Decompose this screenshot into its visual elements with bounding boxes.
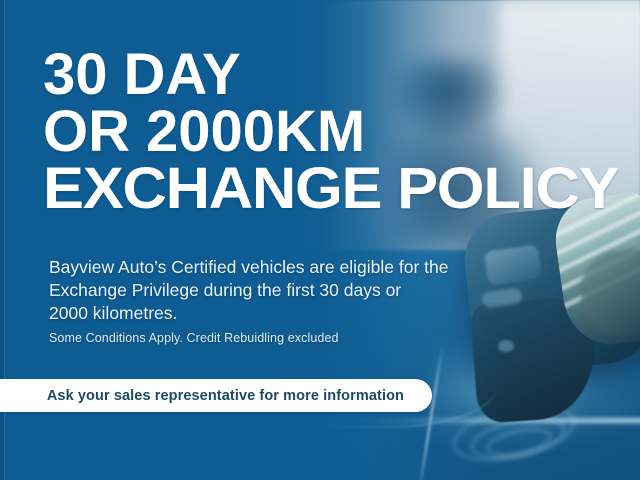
body-copy-line-1: Bayview Auto’s Certified vehicles are el… (49, 256, 489, 279)
cta-button[interactable]: Ask your sales representative for more i… (0, 379, 432, 412)
headline-line-1-word: DAY (124, 42, 241, 107)
headline-line-2-word: OR (43, 99, 130, 164)
headline-line-1: 30DAY (43, 46, 623, 103)
body-copy: Bayview Auto’s Certified vehicles are el… (49, 256, 489, 325)
banner-content: 30DAY OR2000KM EXCHANGE POLICY Bayview A… (0, 0, 640, 480)
cta-button-label: Ask your sales representative for more i… (47, 388, 404, 404)
headline-line-2: OR2000KM (43, 103, 623, 160)
headline-line-3: EXCHANGE POLICY (43, 160, 640, 217)
fine-print-disclaimer: Some Conditions Apply. Credit Rebuidling… (49, 331, 339, 345)
body-copy-line-3: 2000 kilometres. (49, 302, 489, 325)
promotional-banner: 30DAY OR2000KM EXCHANGE POLICY Bayview A… (0, 0, 640, 480)
headline-line-1-number: 30 (43, 42, 108, 107)
body-copy-line-2: Exchange Privilege during the first 30 d… (49, 279, 489, 302)
headline: 30DAY OR2000KM EXCHANGE POLICY (43, 46, 623, 217)
headline-line-2-distance: 2000KM (146, 99, 365, 164)
